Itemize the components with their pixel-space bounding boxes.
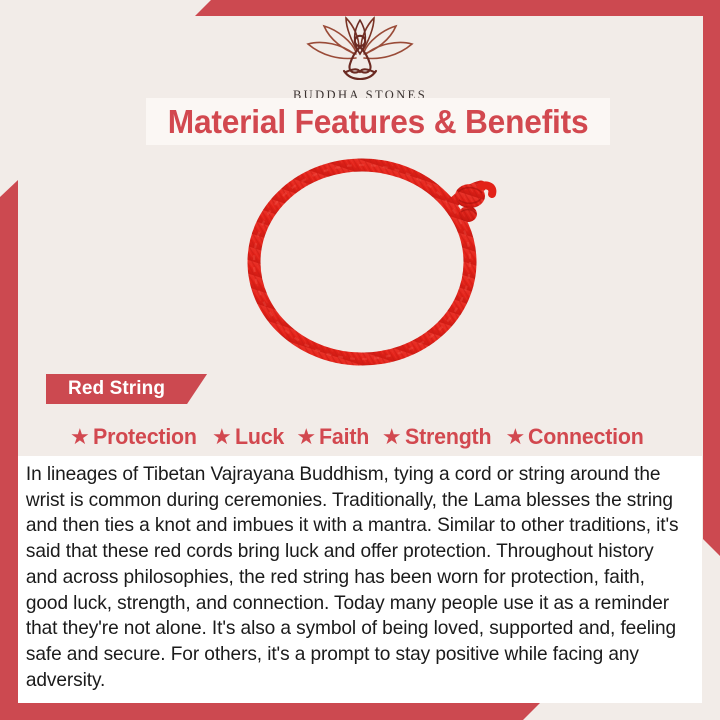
benefit-label-protection: Protection	[93, 424, 197, 450]
benefit-label-faith: Faith	[319, 424, 369, 450]
star-icon: ★	[506, 426, 526, 448]
benefit-item-luck: ★ Luck	[212, 424, 286, 450]
title-banner: Material Features & Benefits	[146, 98, 610, 145]
product-label: Red String	[68, 378, 165, 400]
description-text: In lineages of Tibetan Vajrayana Buddhis…	[18, 456, 692, 693]
product-label-banner: Red String	[46, 374, 207, 404]
star-icon: ★	[70, 426, 90, 448]
description-panel: In lineages of Tibetan Vajrayana Buddhis…	[18, 456, 702, 703]
red-cord-bracelet-illustration	[0, 152, 720, 367]
star-icon: ★	[212, 426, 232, 448]
star-icon: ★	[382, 426, 402, 448]
benefit-item-connection: ★ Connection	[506, 424, 650, 450]
benefit-label-strength: Strength	[405, 424, 491, 450]
benefit-item-strength: ★ Strength	[382, 424, 496, 450]
benefits-row: ★ Protection ★ Luck ★ Faith ★ Strength ★…	[18, 421, 702, 453]
decor-bar-bottom	[0, 703, 540, 720]
lotus-meditation-icon	[296, 14, 424, 86]
product-image	[0, 152, 720, 367]
star-icon: ★	[296, 426, 316, 448]
benefit-item-faith: ★ Faith	[296, 424, 371, 450]
page-title: Material Features & Benefits	[168, 103, 589, 141]
benefit-item-protection: ★ Protection	[70, 424, 202, 450]
brand-logo: BUDDHA STONES	[0, 14, 720, 103]
benefit-label-luck: Luck	[235, 424, 284, 450]
benefit-label-connection: Connection	[528, 424, 644, 450]
infographic-card: BUDDHA STONES Material Features & Benefi…	[0, 0, 720, 720]
